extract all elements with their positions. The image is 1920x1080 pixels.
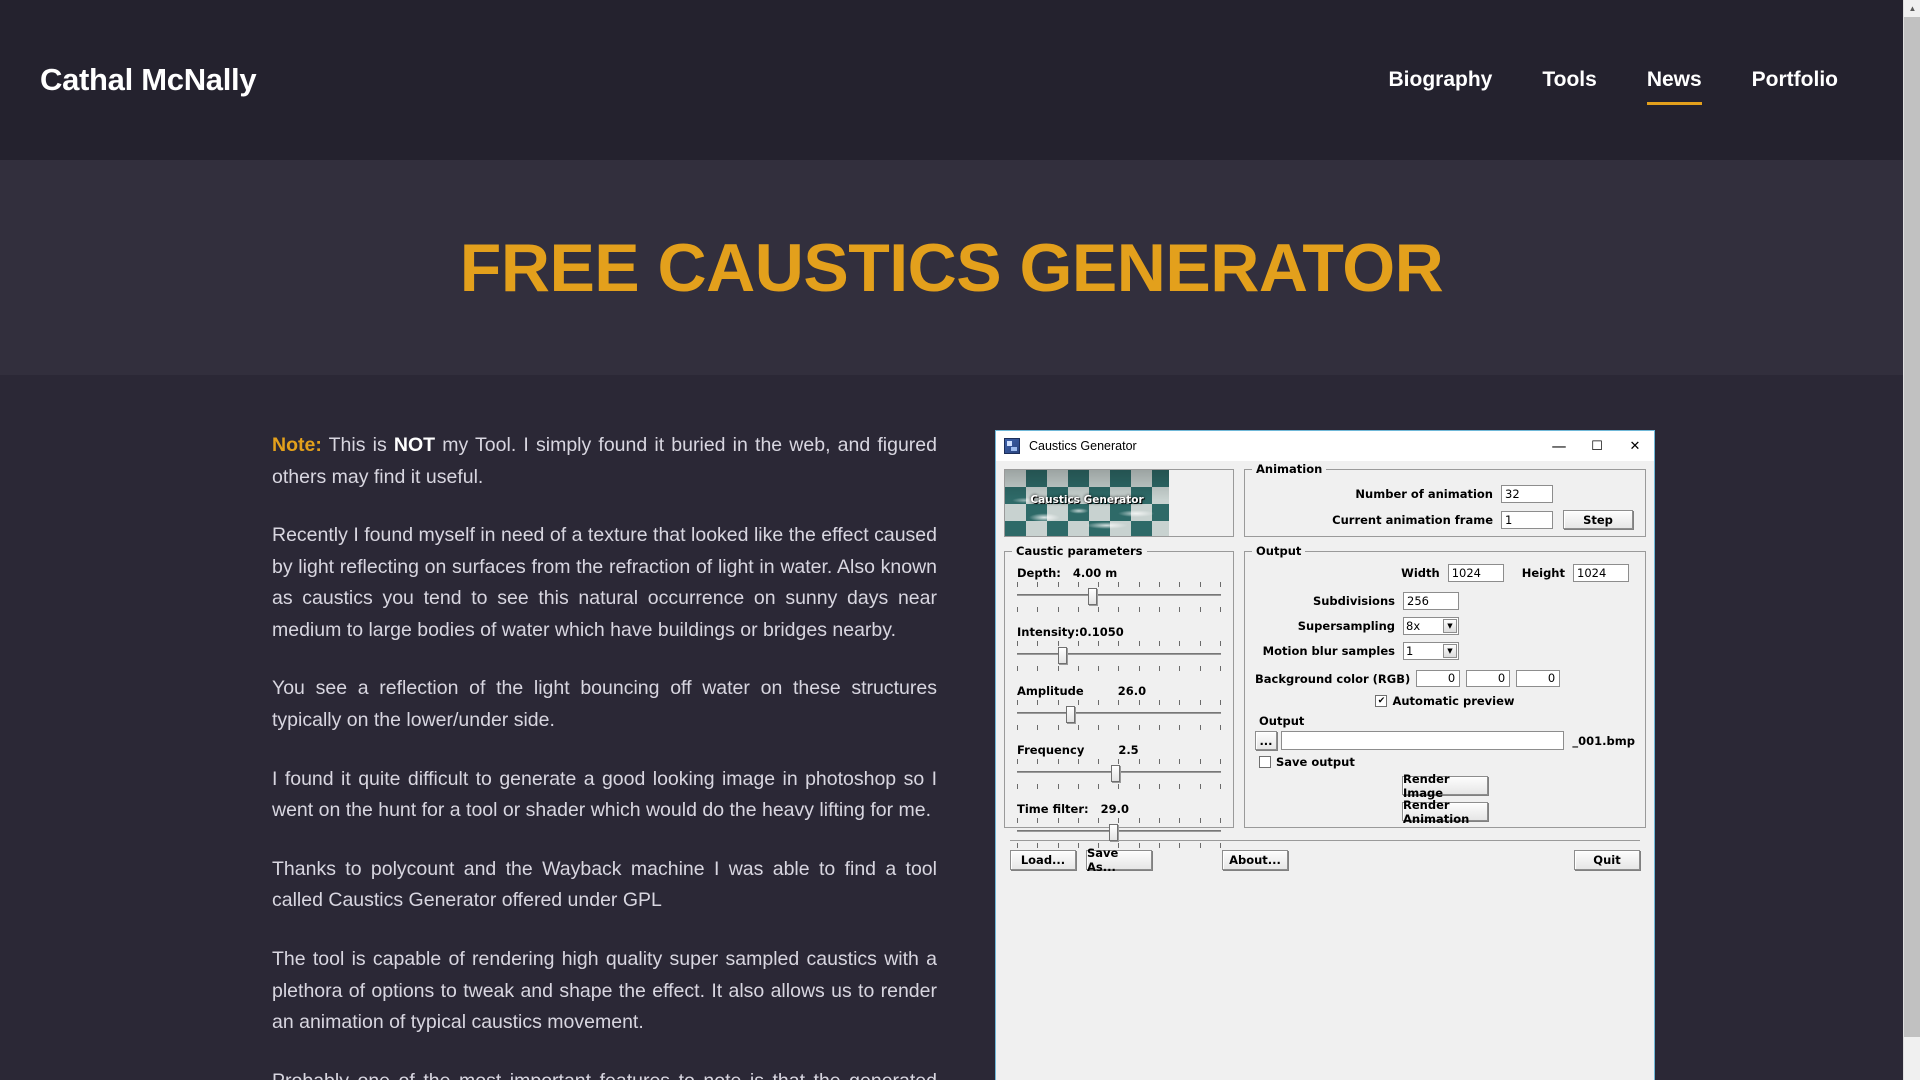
slider-ticks-top <box>1017 700 1221 705</box>
output-path-row: ... _001.bmp <box>1255 731 1635 750</box>
slider-intensity-head: Intensity: 0.1050 <box>1017 625 1221 639</box>
current-animation-frame-label: Current animation frame <box>1332 513 1493 527</box>
slider-intensity-label: Intensity: <box>1017 625 1079 639</box>
slider-intensity-control[interactable] <box>1017 641 1221 671</box>
slider-thumb[interactable] <box>1058 647 1067 664</box>
slider-depth-control[interactable] <box>1017 582 1221 612</box>
output-path-input[interactable] <box>1281 731 1564 750</box>
slider-amplitude-label: Amplitude <box>1017 684 1084 698</box>
supersampling-row: Supersampling 8x ▼ <box>1255 617 1635 635</box>
window-title: Caustics Generator <box>1029 439 1137 453</box>
page-root: Cathal McNally Biography Tools News Port… <box>0 0 1920 1080</box>
automatic-preview-row[interactable]: ✔ Automatic preview <box>1255 694 1635 708</box>
window-controls: — ☐ ✕ <box>1540 431 1654 461</box>
slider-thumb[interactable] <box>1109 824 1118 841</box>
number-of-animation-row: Number of animation 32 <box>1245 484 1633 503</box>
quit-button[interactable]: Quit <box>1574 850 1640 870</box>
main-nav: Biography Tools News Portfolio <box>1364 58 1863 102</box>
chevron-down-icon[interactable]: ▼ <box>1443 644 1457 658</box>
slider-time-filter-control[interactable] <box>1017 818 1221 848</box>
article-body: Note: This is NOT my Tool. I simply foun… <box>272 430 937 1080</box>
paragraph-6: Probably one of the most important featu… <box>272 1066 937 1080</box>
slider-amplitude-control[interactable] <box>1017 700 1221 730</box>
caustics-generator-window: Caustics Generator — ☐ ✕ Caustics Gene <box>995 430 1655 1080</box>
slider-depth-value: 4.00 m <box>1073 566 1117 580</box>
top-row: Caustics Generator Animation Number of a… <box>1004 469 1646 537</box>
minimize-icon[interactable]: — <box>1540 431 1578 461</box>
slider-thumb[interactable] <box>1088 588 1097 605</box>
number-of-animation-label: Number of animation <box>1355 487 1493 501</box>
paragraph-1: Recently I found myself in need of a tex… <box>272 520 937 646</box>
site-brand[interactable]: Cathal McNally <box>40 62 256 98</box>
background-color-label: Background color (RGB) <box>1255 672 1410 686</box>
render-image-button[interactable]: Render Image <box>1402 776 1488 795</box>
slider-frequency-value: 2.5 <box>1118 743 1138 757</box>
preview-caption: Caustics Generator <box>1005 494 1169 506</box>
height-input[interactable]: 1024 <box>1573 564 1629 582</box>
width-label: Width <box>1401 566 1440 580</box>
automatic-preview-label: Automatic preview <box>1392 694 1514 708</box>
scroll-up-icon[interactable]: ▲ <box>1904 0 1920 17</box>
width-height-row: Width 1024 Height 1024 <box>1255 564 1635 582</box>
animation-group-legend: Animation <box>1252 462 1326 476</box>
slider-track <box>1017 830 1221 832</box>
motion-blur-select[interactable]: 1 ▼ <box>1403 642 1459 660</box>
height-label: Height <box>1522 566 1565 580</box>
caustic-parameters-group: Caustic parameters Depth: 4.00 m <box>1004 551 1234 828</box>
preview-image: Caustics Generator <box>1005 470 1169 536</box>
note-label: Note: <box>272 434 322 456</box>
about-button[interactable]: About... <box>1222 850 1288 870</box>
number-of-animation-input[interactable]: 32 <box>1501 485 1553 503</box>
paragraph-2: You see a reflection of the light bounci… <box>272 673 937 736</box>
background-color-b-input[interactable]: 0 <box>1516 670 1560 687</box>
nav-item-tools[interactable]: Tools <box>1517 58 1621 102</box>
paragraph-5: The tool is capable of rendering high qu… <box>272 944 937 1039</box>
slider-ticks-top <box>1017 818 1221 823</box>
slider-amplitude-value: 26.0 <box>1118 684 1146 698</box>
background-color-r-input[interactable]: 0 <box>1416 670 1460 687</box>
scrollbar-thumb[interactable] <box>1904 17 1920 1037</box>
page-title: FREE CAUSTICS GENERATOR <box>460 229 1443 307</box>
slider-ticks-bottom <box>1017 843 1221 848</box>
slider-amplitude: Amplitude 26.0 <box>1017 684 1221 730</box>
slider-track <box>1017 594 1221 596</box>
paragraph-3: I found it quite difficult to generate a… <box>272 764 937 827</box>
slider-track <box>1017 712 1221 714</box>
paragraph-note: Note: This is NOT my Tool. I simply foun… <box>272 430 937 493</box>
chevron-down-icon[interactable]: ▼ <box>1443 619 1457 633</box>
render-buttons: Render Image Render Animation <box>1255 776 1635 821</box>
nav-item-portfolio[interactable]: Portfolio <box>1727 58 1863 102</box>
close-icon[interactable]: ✕ <box>1616 431 1654 461</box>
slider-thumb[interactable] <box>1066 706 1075 723</box>
output-group-legend: Output <box>1252 544 1305 558</box>
slider-track <box>1017 653 1221 655</box>
slider-frequency: Frequency 2.5 <box>1017 743 1221 789</box>
note-emphasis: NOT <box>394 434 435 456</box>
caustic-parameters-legend: Caustic parameters <box>1012 544 1147 558</box>
slider-depth-head: Depth: 4.00 m <box>1017 566 1221 580</box>
background-color-row: Background color (RGB) 0 0 0 <box>1255 670 1635 687</box>
nav-item-news[interactable]: News <box>1622 58 1727 102</box>
slider-amplitude-head: Amplitude 26.0 <box>1017 684 1221 698</box>
nav-item-biography[interactable]: Biography <box>1364 58 1518 102</box>
slider-intensity-value: 0.1050 <box>1079 625 1123 639</box>
hero-banner: FREE CAUSTICS GENERATOR <box>0 160 1903 375</box>
slider-time-filter-head: Time filter: 29.0 <box>1017 802 1221 816</box>
subdivisions-label: Subdivisions <box>1255 594 1395 608</box>
page-scrollbar[interactable]: ▲ <box>1903 0 1920 1080</box>
slider-frequency-control[interactable] <box>1017 759 1221 789</box>
slider-frequency-head: Frequency 2.5 <box>1017 743 1221 757</box>
slider-depth-label: Depth: <box>1017 566 1061 580</box>
supersampling-select[interactable]: 8x ▼ <box>1403 617 1459 635</box>
browse-button[interactable]: ... <box>1255 731 1277 750</box>
subdivisions-input[interactable]: 256 <box>1403 592 1459 610</box>
supersampling-value: 8x <box>1406 619 1420 633</box>
slider-ticks-bottom <box>1017 607 1221 612</box>
automatic-preview-checkbox[interactable]: ✔ <box>1375 695 1387 707</box>
save-output-row[interactable]: Save output <box>1259 755 1635 769</box>
slider-intensity: Intensity: 0.1050 <box>1017 625 1221 671</box>
window-titlebar[interactable]: Caustics Generator — ☐ ✕ <box>996 431 1654 461</box>
width-input[interactable]: 1024 <box>1448 564 1504 582</box>
output-path-suffix: _001.bmp <box>1572 734 1635 748</box>
slider-ticks-bottom <box>1017 784 1221 789</box>
output-path-label: Output <box>1259 714 1635 728</box>
site-header: Cathal McNally Biography Tools News Port… <box>0 0 1903 160</box>
content-area: Note: This is NOT my Tool. I simply foun… <box>0 375 1903 1080</box>
animation-rows: Number of animation 32 Current animation… <box>1245 470 1645 529</box>
slider-time-filter-value: 29.0 <box>1101 802 1129 816</box>
preview-box[interactable]: Caustics Generator <box>1004 469 1234 537</box>
note-text-before: This is <box>322 434 394 456</box>
output-group: Output Width 1024 Height 1024 Subdivisio… <box>1244 551 1646 828</box>
maximize-icon[interactable]: ☐ <box>1578 431 1616 461</box>
slider-ticks-bottom <box>1017 666 1221 671</box>
subdivisions-row: Subdivisions 256 <box>1255 592 1635 610</box>
slider-frequency-label: Frequency <box>1017 743 1084 757</box>
current-animation-frame-row: Current animation frame 1 Step <box>1245 510 1633 529</box>
animation-group: Animation Number of animation 32 Current… <box>1244 469 1646 537</box>
slider-ticks-top <box>1017 641 1221 646</box>
motion-blur-row: Motion blur samples 1 ▼ <box>1255 642 1635 660</box>
slider-time-filter-label: Time filter: <box>1017 802 1089 816</box>
render-animation-button[interactable]: Render Animation <box>1402 802 1488 821</box>
current-animation-frame-input[interactable]: 1 <box>1501 511 1553 529</box>
mid-row: Caustic parameters Depth: 4.00 m <box>1004 551 1646 828</box>
save-output-label: Save output <box>1276 755 1355 769</box>
step-button[interactable]: Step <box>1563 510 1633 529</box>
slider-time-filter: Time filter: 29.0 <box>1017 802 1221 848</box>
slider-thumb[interactable] <box>1111 765 1120 782</box>
slider-ticks-top <box>1017 582 1221 587</box>
motion-blur-label: Motion blur samples <box>1255 644 1395 658</box>
dialog-body: Caustics Generator Animation Number of a… <box>996 461 1654 880</box>
save-as-button[interactable]: Save As... <box>1086 850 1152 870</box>
app-icon <box>1004 438 1020 454</box>
supersampling-label: Supersampling <box>1255 619 1395 633</box>
motion-blur-value: 1 <box>1406 644 1413 658</box>
load-button[interactable]: Load... <box>1010 850 1076 870</box>
slider-depth: Depth: 4.00 m <box>1017 566 1221 612</box>
slider-ticks-top <box>1017 759 1221 764</box>
paragraph-4: Thanks to polycount and the Wayback mach… <box>272 854 937 917</box>
page-viewport: Cathal McNally Biography Tools News Port… <box>0 0 1903 1080</box>
save-output-checkbox[interactable] <box>1259 756 1271 768</box>
background-color-g-input[interactable]: 0 <box>1466 670 1510 687</box>
slider-ticks-bottom <box>1017 725 1221 730</box>
